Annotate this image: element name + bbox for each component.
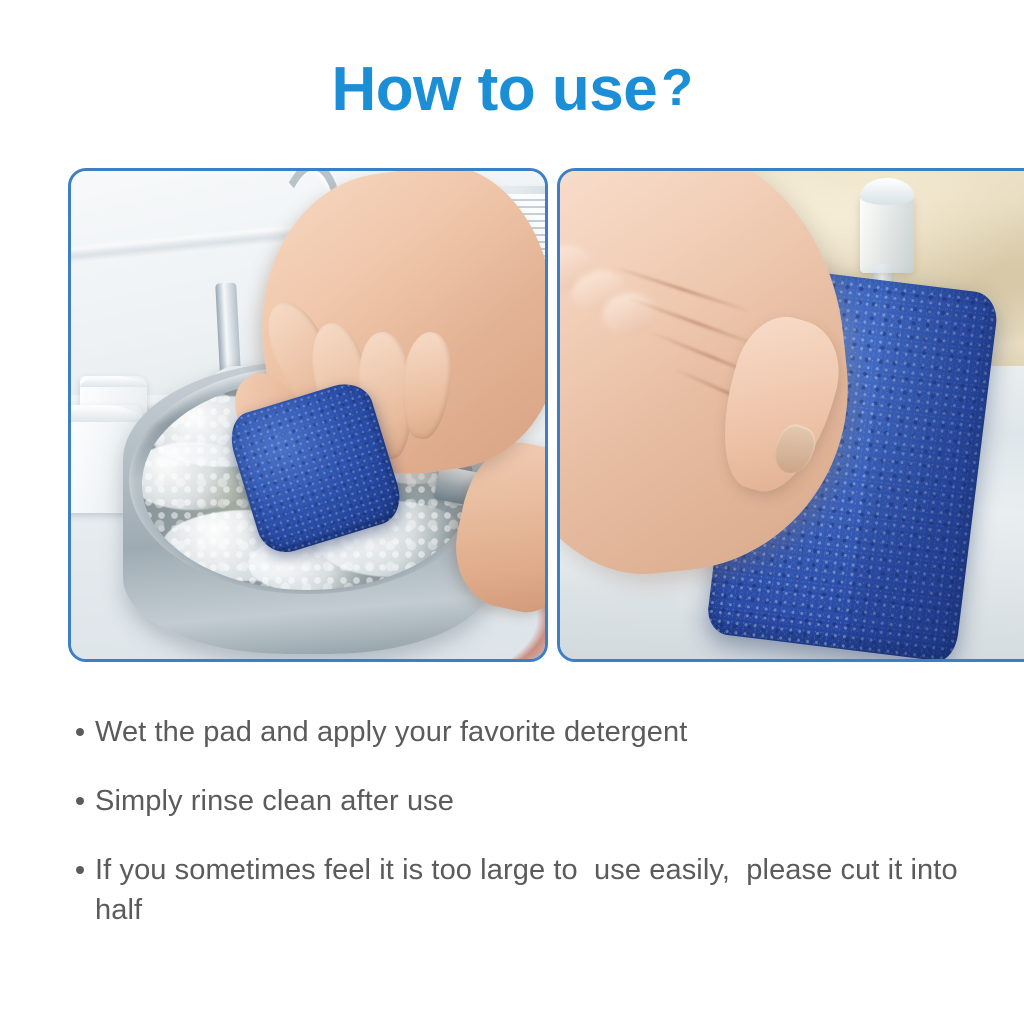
scrubbing-pot-photo xyxy=(68,168,548,662)
list-item-text: Simply rinse clean after use xyxy=(95,781,996,821)
list-item-text: If you sometimes feel it is too large to… xyxy=(95,850,996,930)
cup-lip xyxy=(71,405,142,422)
list-item: Wet the pad and apply your favorite dete… xyxy=(76,712,996,752)
scrubbing-pot-photo-inner xyxy=(71,171,545,659)
bullet-dot-icon xyxy=(76,728,84,736)
list-item: Simply rinse clean after use xyxy=(76,781,996,821)
list-item: If you sometimes feel it is too large to… xyxy=(76,850,996,930)
list-item-text: Wet the pad and apply your favorite dete… xyxy=(95,712,996,752)
instructions-list: Wet the pad and apply your favorite dete… xyxy=(76,712,996,930)
sink-tap xyxy=(860,195,914,273)
rinsed-pad-photo-inner xyxy=(560,171,1024,659)
bullet-dot-icon xyxy=(76,797,84,805)
cup-lip xyxy=(80,376,146,387)
rinsed-pad-photo xyxy=(557,168,1024,662)
bullet-dot-icon xyxy=(76,866,84,874)
